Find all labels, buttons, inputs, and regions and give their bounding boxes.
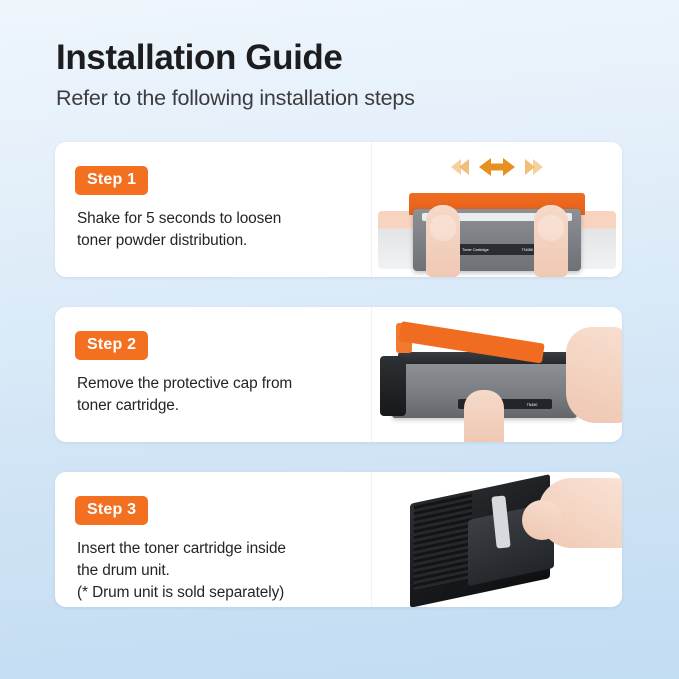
- step-1-text-panel: Step 1 Shake for 5 seconds to loosen ton…: [55, 142, 372, 277]
- step-2-badge: Step 2: [75, 331, 148, 360]
- supporting-hand: [464, 390, 504, 442]
- right-hand: [534, 205, 568, 277]
- drum-unit-grille: [414, 491, 472, 591]
- step-card-2: Step 2 Remove the protective cap from to…: [55, 307, 622, 442]
- step-2-image-panel: Toner Cartridge TN450: [372, 307, 622, 442]
- left-hand: [426, 205, 460, 277]
- step-3-description: Insert the toner cartridge inside the dr…: [77, 538, 371, 604]
- step-1-badge: Step 1: [75, 166, 148, 195]
- step-3-text-panel: Step 3 Insert the toner cartridge inside…: [55, 472, 372, 607]
- step-3-image-panel: [372, 472, 622, 607]
- step-card-3: Step 3 Insert the toner cartridge inside…: [55, 472, 622, 607]
- step-1-image-panel: Toner Cartridge TN450: [372, 142, 622, 277]
- step-2-text-panel: Step 2 Remove the protective cap from to…: [55, 307, 372, 442]
- page-header: Installation Guide Refer to the followin…: [56, 38, 636, 112]
- page-title: Installation Guide: [56, 38, 636, 77]
- step-3-photo: [372, 472, 622, 607]
- page-subtitle: Refer to the following installation step…: [56, 86, 636, 112]
- step-3-badge: Step 3: [75, 496, 148, 525]
- cartridge-label-left-text: Toner Cartridge: [462, 247, 489, 252]
- cartridge-label-right-text: TN450: [521, 247, 533, 252]
- step-1-photo: Toner Cartridge TN450: [372, 182, 622, 277]
- step-card-1: Step 1 Shake for 5 seconds to loosen ton…: [55, 142, 622, 277]
- cartridge-end-cap: [380, 356, 406, 416]
- shake-direction-arrow-icon: [445, 154, 549, 185]
- step-2-description: Remove the protective cap from toner car…: [77, 373, 371, 417]
- pulling-hand: [566, 327, 622, 423]
- step-2-photo: Toner Cartridge TN450: [372, 307, 622, 442]
- inserting-hand: [538, 478, 622, 548]
- cartridge-label-right-text: TN450: [527, 402, 538, 407]
- step-1-description: Shake for 5 seconds to loosen toner powd…: [77, 208, 371, 252]
- installation-steps-list: Step 1 Shake for 5 seconds to loosen ton…: [55, 142, 622, 607]
